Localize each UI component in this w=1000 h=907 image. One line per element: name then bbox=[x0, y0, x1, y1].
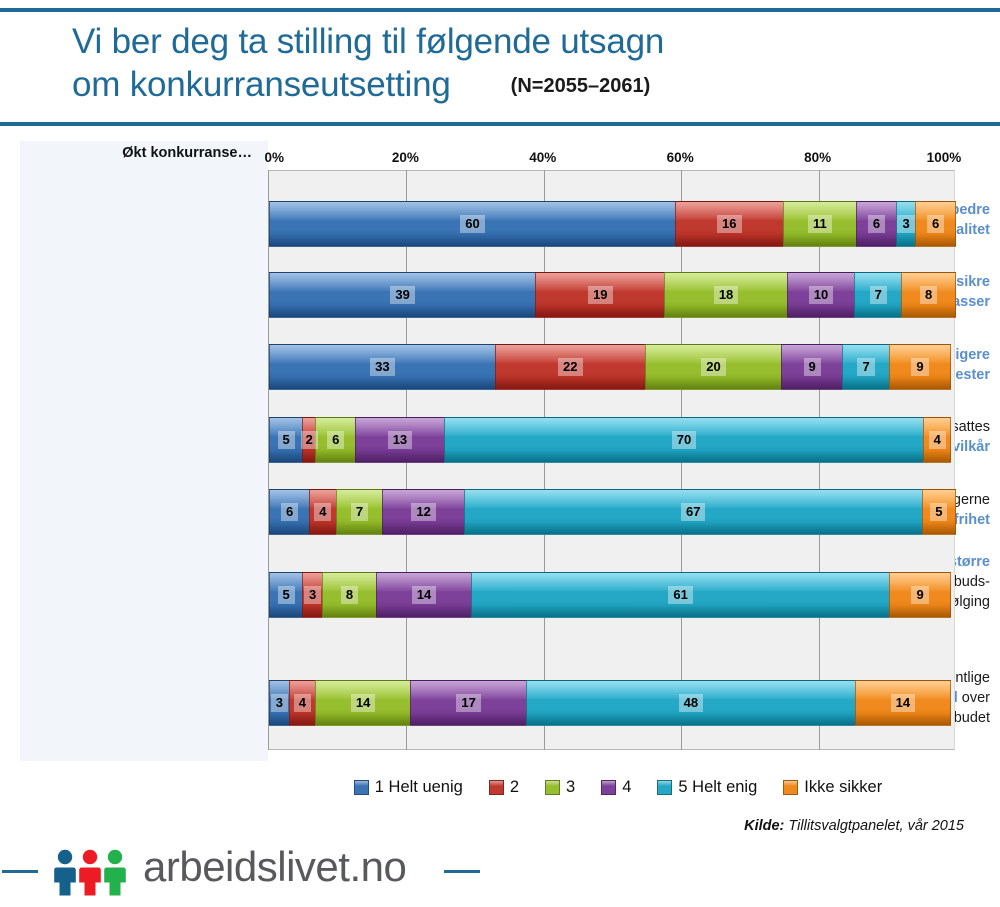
page-title: Vi ber deg ta stilling til følgende utsa… bbox=[72, 20, 972, 108]
bar-segment[interactable]: 14 bbox=[315, 680, 411, 726]
bar-segment[interactable]: 8 bbox=[322, 572, 377, 618]
bar-segment[interactable]: 6 bbox=[856, 201, 897, 247]
bar-segment[interactable]: 6 bbox=[269, 489, 310, 535]
segment-shadow bbox=[527, 713, 855, 725]
bar-segment[interactable]: 3 bbox=[896, 201, 916, 247]
segment-shadow bbox=[290, 713, 315, 725]
segment-shadow bbox=[496, 377, 645, 389]
people-logo-icon bbox=[52, 848, 130, 901]
bar-segment[interactable]: 17 bbox=[410, 680, 527, 726]
bar-segment[interactable]: 11 bbox=[783, 201, 858, 247]
segment-shadow bbox=[445, 450, 924, 462]
bar-segment[interactable]: 16 bbox=[675, 201, 784, 247]
bar-value-label: 19 bbox=[588, 286, 612, 304]
segment-shadow bbox=[270, 450, 302, 462]
segment-shadow bbox=[270, 377, 495, 389]
segment-shadow bbox=[323, 605, 376, 617]
legend-swatch-icon bbox=[545, 780, 560, 795]
bar-segment[interactable]: 7 bbox=[336, 489, 384, 535]
bar-value-label: 5 bbox=[278, 431, 295, 449]
segment-shadow bbox=[676, 234, 783, 246]
bar-segment[interactable]: 5 bbox=[269, 417, 303, 463]
plot-area: 6016116363919181078332220979526137046471… bbox=[268, 170, 955, 750]
segment-shadow bbox=[782, 377, 842, 389]
wordmark: arbeidslivet.no bbox=[143, 843, 406, 891]
category-label-panel bbox=[20, 141, 268, 761]
legend-label: 2 bbox=[510, 778, 519, 797]
legend-swatch-icon bbox=[489, 780, 504, 795]
title-bottom-rule bbox=[0, 122, 1000, 126]
bar-segment[interactable]: 14 bbox=[855, 680, 951, 726]
segment-shadow bbox=[646, 377, 781, 389]
bar-segment[interactable]: 48 bbox=[526, 680, 856, 726]
segment-shadow bbox=[890, 377, 950, 389]
bar-value-label: 70 bbox=[672, 431, 696, 449]
segment-shadow bbox=[316, 713, 410, 725]
segment-shadow bbox=[536, 305, 664, 317]
bar-value-label: 8 bbox=[920, 286, 937, 304]
bar-value-label: 3 bbox=[897, 215, 914, 233]
bar-value-label: 14 bbox=[351, 694, 375, 712]
bar-segment[interactable]: 18 bbox=[664, 272, 787, 318]
legend-label: Ikke sikker bbox=[804, 778, 882, 797]
segment-shadow bbox=[270, 305, 535, 317]
bar-value-label: 61 bbox=[668, 586, 692, 604]
bar-segment[interactable]: 67 bbox=[464, 489, 923, 535]
plot-bottom-border bbox=[269, 749, 954, 750]
bar-value-label: 17 bbox=[456, 694, 480, 712]
bar-value-label: 4 bbox=[294, 694, 311, 712]
x-axis-tick: 80% bbox=[804, 150, 831, 165]
segment-shadow bbox=[857, 234, 896, 246]
bar-segment[interactable]: 7 bbox=[854, 272, 902, 318]
bar-segment[interactable]: 9 bbox=[889, 344, 951, 390]
x-axis-tick: 100% bbox=[927, 150, 962, 165]
segment-shadow bbox=[356, 450, 443, 462]
chart-legend: 1 Helt uenig2345 Helt enigIkke sikker bbox=[268, 770, 968, 804]
segment-shadow bbox=[665, 305, 786, 317]
bar-value-label: 33 bbox=[370, 358, 394, 376]
bar-segment[interactable]: 8 bbox=[901, 272, 956, 318]
bar-value-label: 9 bbox=[911, 586, 928, 604]
bar-value-label: 67 bbox=[681, 503, 705, 521]
segment-shadow bbox=[270, 522, 309, 534]
bar-value-label: 6 bbox=[927, 215, 944, 233]
bar-segment[interactable]: 19 bbox=[535, 272, 665, 318]
segment-shadow bbox=[923, 522, 955, 534]
bar-segment[interactable]: 13 bbox=[355, 417, 444, 463]
legend-swatch-icon bbox=[657, 780, 672, 795]
bar-value-label: 7 bbox=[351, 503, 368, 521]
bar-value-label: 7 bbox=[870, 286, 887, 304]
legend-label: 4 bbox=[622, 778, 631, 797]
source-prefix: Kilde: bbox=[744, 818, 784, 834]
legend-item[interactable]: 2 bbox=[489, 778, 519, 797]
bar-value-label: 20 bbox=[701, 358, 725, 376]
bar-value-label: 11 bbox=[808, 215, 832, 233]
footer-right-rule bbox=[444, 870, 480, 873]
bar-value-label: 16 bbox=[717, 215, 741, 233]
segment-shadow bbox=[270, 605, 302, 617]
bar-segment[interactable]: 3 bbox=[269, 680, 290, 726]
segment-shadow bbox=[316, 450, 355, 462]
segment-shadow bbox=[897, 234, 915, 246]
x-axis-tick: 20% bbox=[392, 150, 419, 165]
bar-value-label: 4 bbox=[314, 503, 331, 521]
bar-value-label: 18 bbox=[714, 286, 738, 304]
bar-value-label: 13 bbox=[388, 431, 412, 449]
bar-value-label: 60 bbox=[460, 215, 484, 233]
title-block: Vi ber deg ta stilling til følgende utsa… bbox=[0, 8, 1000, 126]
bar-value-label: 3 bbox=[304, 586, 321, 604]
segment-shadow bbox=[902, 305, 955, 317]
bar-value-label: 3 bbox=[271, 694, 288, 712]
bar-segment[interactable]: 7 bbox=[842, 344, 890, 390]
legend-label: 3 bbox=[566, 778, 575, 797]
bar-segment[interactable]: 9 bbox=[781, 344, 843, 390]
source-note: Kilde: Tillitsvalgtpanelet, vår 2015 bbox=[744, 818, 964, 834]
segment-shadow bbox=[303, 605, 322, 617]
bar-row: 52613704 bbox=[269, 417, 956, 463]
bar-segment[interactable]: 3 bbox=[302, 572, 323, 618]
bar-value-label: 4 bbox=[929, 431, 946, 449]
bar-value-label: 14 bbox=[412, 586, 436, 604]
bar-value-label: 9 bbox=[804, 358, 821, 376]
bar-value-label: 48 bbox=[679, 694, 703, 712]
bar-segment[interactable]: 14 bbox=[376, 572, 472, 618]
legend-item[interactable]: 3 bbox=[545, 778, 575, 797]
bar-value-label: 5 bbox=[278, 586, 295, 604]
title-top-rule bbox=[0, 8, 1000, 12]
bar-segment[interactable]: 39 bbox=[269, 272, 536, 318]
bar-value-label: 6 bbox=[281, 503, 298, 521]
bar-value-label: 9 bbox=[911, 358, 928, 376]
legend-label: 5 Helt enig bbox=[678, 778, 757, 797]
bar-segment[interactable]: 22 bbox=[495, 344, 646, 390]
bar-value-label: 6 bbox=[327, 431, 344, 449]
segment-shadow bbox=[924, 450, 949, 462]
segment-shadow bbox=[856, 713, 950, 725]
legend-item[interactable]: 5 Helt enig bbox=[657, 778, 757, 797]
bar-segment[interactable]: 61 bbox=[471, 572, 890, 618]
legend-label: 1 Helt uenig bbox=[375, 778, 463, 797]
footer-left-rule bbox=[2, 870, 38, 873]
bar-segment[interactable]: 5 bbox=[922, 489, 956, 535]
category-panel-header: Økt konkurranse… bbox=[20, 145, 260, 161]
bar-row: 64712675 bbox=[269, 489, 956, 535]
bar-segment[interactable]: 12 bbox=[382, 489, 464, 535]
bar-segment[interactable]: 2 bbox=[302, 417, 316, 463]
source-text: Tillitsvalgtpanelet, vår 2015 bbox=[784, 818, 964, 834]
bar-value-label: 22 bbox=[558, 358, 582, 376]
segment-shadow bbox=[411, 713, 526, 725]
bar-segment[interactable]: 4 bbox=[309, 489, 336, 535]
segment-shadow bbox=[310, 522, 335, 534]
x-axis-tick: 0% bbox=[264, 150, 284, 165]
bar-value-label: 2 bbox=[301, 431, 318, 449]
bar-segment[interactable]: 6 bbox=[315, 417, 356, 463]
bar-segment[interactable]: 6 bbox=[915, 201, 956, 247]
title-line-1: Vi ber deg ta stilling til følgende utsa… bbox=[72, 22, 664, 61]
segment-shadow bbox=[377, 605, 471, 617]
segment-shadow bbox=[890, 605, 950, 617]
title-line-2: om konkurranseutsetting bbox=[72, 65, 451, 104]
bar-row: 53814619 bbox=[269, 572, 956, 618]
segment-shadow bbox=[784, 234, 857, 246]
bar-segment[interactable]: 20 bbox=[645, 344, 782, 390]
bar-value-label: 7 bbox=[857, 358, 874, 376]
bar-row: 3414174814 bbox=[269, 680, 956, 726]
bar-segment[interactable]: 4 bbox=[923, 417, 950, 463]
legend-swatch-icon bbox=[354, 780, 369, 795]
bar-segment[interactable]: 60 bbox=[269, 201, 676, 247]
segment-shadow bbox=[788, 305, 855, 317]
legend-item[interactable]: 4 bbox=[601, 778, 631, 797]
bar-value-label: 5 bbox=[930, 503, 947, 521]
segment-shadow bbox=[843, 377, 889, 389]
segment-shadow bbox=[472, 605, 889, 617]
segment-shadow bbox=[465, 522, 922, 534]
bar-segment[interactable]: 5 bbox=[269, 572, 303, 618]
segment-shadow bbox=[303, 450, 315, 462]
bar-value-label: 8 bbox=[341, 586, 358, 604]
footer: arbeidslivet.no bbox=[0, 848, 1000, 898]
bar-row: 601611636 bbox=[269, 201, 956, 247]
segment-shadow bbox=[383, 522, 463, 534]
bar-segment[interactable]: 70 bbox=[444, 417, 925, 463]
legend-swatch-icon bbox=[601, 780, 616, 795]
bar-segment[interactable]: 4 bbox=[289, 680, 316, 726]
chart-page: Vi ber deg ta stilling til følgende utsa… bbox=[0, 0, 1000, 907]
bar-value-label: 6 bbox=[868, 215, 885, 233]
legend-item[interactable]: Ikke sikker bbox=[783, 778, 882, 797]
bar-row: 3919181078 bbox=[269, 272, 956, 318]
bar-row: 332220979 bbox=[269, 344, 956, 390]
segment-shadow bbox=[270, 713, 289, 725]
segment-shadow bbox=[337, 522, 383, 534]
bar-value-label: 12 bbox=[411, 503, 435, 521]
bar-segment[interactable]: 33 bbox=[269, 344, 496, 390]
bar-value-label: 14 bbox=[891, 694, 915, 712]
legend-item[interactable]: 1 Helt uenig bbox=[354, 778, 463, 797]
bar-segment[interactable]: 9 bbox=[889, 572, 951, 618]
segment-shadow bbox=[855, 305, 901, 317]
legend-swatch-icon bbox=[783, 780, 798, 795]
x-axis-tick: 40% bbox=[529, 150, 556, 165]
x-axis-tick: 60% bbox=[667, 150, 694, 165]
segment-shadow bbox=[270, 234, 675, 246]
bar-segment[interactable]: 10 bbox=[787, 272, 856, 318]
bar-value-label: 10 bbox=[809, 286, 833, 304]
sample-size-note: (N=2055–2061) bbox=[511, 75, 651, 97]
segment-shadow bbox=[916, 234, 955, 246]
bar-value-label: 39 bbox=[390, 286, 414, 304]
plot-top-border bbox=[269, 170, 954, 171]
